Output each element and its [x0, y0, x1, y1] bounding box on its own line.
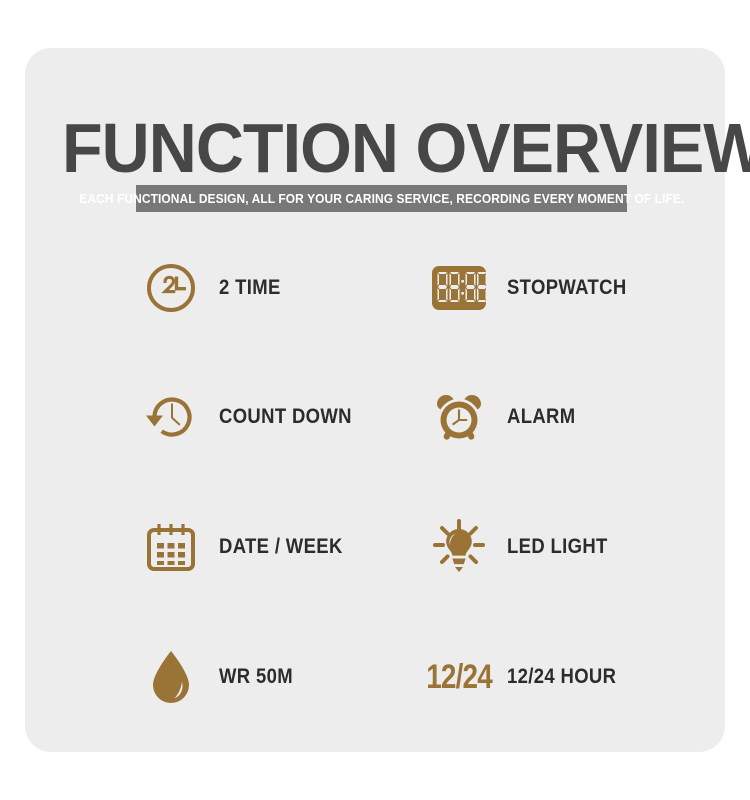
feature-label: COUNT DOWN — [219, 405, 352, 429]
feature-label: ALARM — [507, 405, 575, 429]
feature-label: LED LIGHT — [507, 535, 608, 559]
lightbulb-icon — [423, 511, 495, 583]
feature-item-wr-50m[interactable]: WR 50M — [135, 637, 303, 717]
twelve-twentyfour-icon: 12/24 — [423, 641, 495, 713]
feature-item-stopwatch[interactable]: STOPWATCH — [423, 248, 643, 328]
feature-grid: 2 TIME — [25, 248, 725, 748]
dual-time-clock-icon — [135, 252, 207, 324]
stopwatch-digital-icon — [423, 252, 495, 324]
alarm-clock-icon — [423, 381, 495, 453]
feature-item-2-time[interactable]: 2 TIME — [135, 248, 289, 328]
page-title: FUNCTION OVERVIEW — [62, 112, 750, 184]
feature-label: 2 TIME — [219, 276, 281, 300]
twelve-twentyfour-icon-text: 12/24 — [426, 658, 492, 697]
feature-item-led-light[interactable]: LED LIGHT — [423, 507, 621, 587]
feature-label: WR 50M — [219, 665, 293, 689]
countdown-clock-icon — [135, 381, 207, 453]
subtitle-banner: EACH FUNCTIONAL DESIGN, ALL FOR YOUR CAR… — [136, 185, 627, 212]
feature-label: 12/24 HOUR — [507, 665, 616, 689]
feature-label: STOPWATCH — [507, 276, 627, 300]
subtitle-text: EACH FUNCTIONAL DESIGN, ALL FOR YOUR CAR… — [79, 191, 684, 206]
water-drop-icon — [135, 641, 207, 713]
page-root: FUNCTION OVERVIEW EACH FUNCTIONAL DESIGN… — [0, 0, 750, 800]
feature-item-count-down[interactable]: COUNT DOWN — [135, 377, 370, 457]
feature-label: DATE / WEEK — [219, 535, 343, 559]
calendar-icon — [135, 511, 207, 583]
feature-item-12-24-hour[interactable]: 12/24 12/24 HOUR — [423, 637, 631, 717]
feature-item-alarm[interactable]: ALARM — [423, 377, 585, 457]
feature-item-date-week[interactable]: DATE / WEEK — [135, 507, 360, 587]
